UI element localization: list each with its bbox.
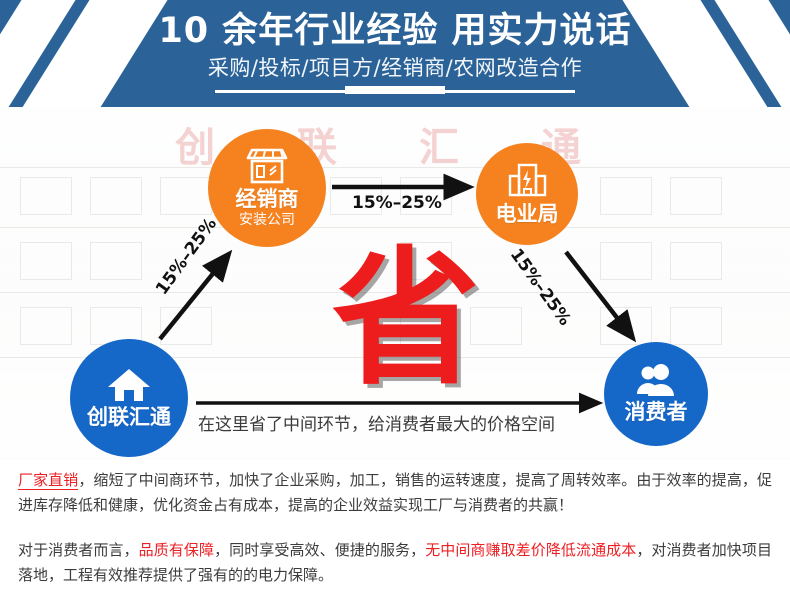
- paragraph-two: 对于消费者而言，品质有保障，同时享受高效、便捷的服务，无中间商赚取差价降低流通成…: [18, 538, 772, 588]
- house-icon: [106, 367, 152, 403]
- page-header: 10 余年行业经验 用实力说话 采购/投标/项目方/经销商/农网改造合作: [0, 0, 790, 107]
- node-power-bureau[interactable]: 电业局: [476, 143, 578, 245]
- promo-banner-page: 10 余年行业经验 用实力说话 采购/投标/项目方/经销商/农网改造合作 创 联…: [0, 0, 790, 600]
- shop-icon: [244, 147, 290, 185]
- center-save-character: 省: [332, 245, 480, 393]
- node-company[interactable]: 创联汇通: [70, 339, 188, 457]
- header-divider-center: [345, 86, 445, 94]
- header-title: 10 余年行业经验 用实力说话: [0, 10, 790, 52]
- distribution-flow-diagram: 省 经销商 安装公司: [0, 107, 790, 457]
- arrow-label-bottom: 在这里省了中间环节，给消费者最大的价格空间: [198, 410, 555, 435]
- paragraph-two-part-1: 对于消费者而言，: [18, 541, 139, 559]
- paragraph-one: 厂家直销，缩短了中间商环节，加快了企业采购，加工，销售的运转速度，提高了周转效率…: [18, 468, 772, 518]
- node-bureau-label: 电业局: [496, 202, 559, 226]
- paragraph-two-highlight-2: 无中间商赚取差价降低流通成本: [425, 541, 636, 559]
- paragraph-two-highlight-1: 品质有保障: [139, 541, 214, 559]
- power-building-icon: [506, 162, 548, 200]
- node-dealer[interactable]: 经销商 安装公司: [208, 129, 326, 247]
- node-dealer-label: 经销商: [236, 187, 299, 211]
- users-icon: [634, 364, 678, 398]
- node-dealer-sublabel: 安装公司: [239, 212, 295, 229]
- header-subtitle: 采购/投标/项目方/经销商/农网改造合作: [0, 55, 790, 81]
- paragraph-one-highlight: 厂家直销: [18, 471, 78, 490]
- paragraph-two-part-2: ，同时享受高效、便捷的服务，: [214, 541, 425, 559]
- node-consumer-label: 消费者: [625, 400, 688, 424]
- body-copy: 厂家直销，缩短了中间商环节，加快了企业采购，加工，销售的运转速度，提高了周转效率…: [0, 460, 790, 600]
- paragraph-one-rest: ，缩短了中间商环节，加快了企业采购，加工，销售的运转速度，提高了周转效率。由于效…: [18, 471, 772, 514]
- node-consumer[interactable]: 消费者: [604, 342, 708, 446]
- node-company-label: 创联汇通: [87, 405, 171, 429]
- arrow-label-top: 15%–25%: [352, 193, 442, 213]
